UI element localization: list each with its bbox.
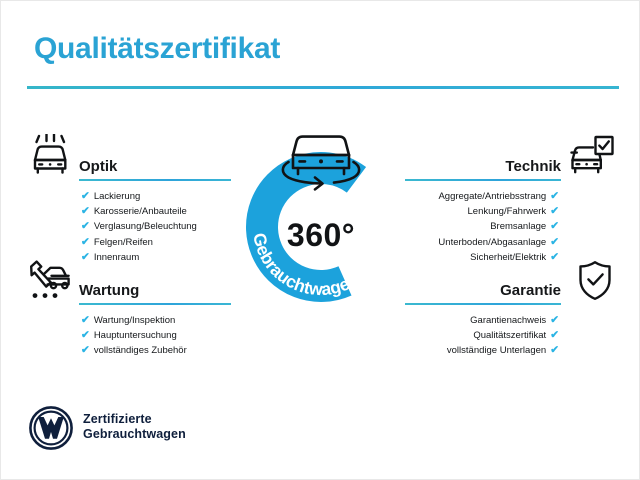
list-item-label: Lackierung — [94, 191, 140, 202]
section-technik-header: Technik — [405, 149, 561, 179]
section-garantie-list: Garantienachweis✔ Qualitätszertifikat✔ v… — [447, 313, 559, 359]
vw-logo-text: Zertifizierte Gebrauchtwagen — [83, 412, 186, 442]
section-garantie: Garantie Garantienachweis✔ Qualitätszert… — [405, 273, 561, 303]
section-technik-divider — [405, 179, 561, 181]
car-shine-icon — [27, 134, 73, 176]
list-item-label: vollständige Unterlagen — [447, 345, 546, 356]
badge-360-check: Gebrauchtwagen-Check 360° — [231, 119, 411, 309]
certificate-page: Qualitätszertifikat Optik ✔Lackierung ✔K… — [0, 0, 640, 480]
list-item-label: Wartung/Inspektion — [94, 315, 176, 326]
list-item: ✔Innenraum — [81, 250, 197, 265]
check-icon: ✔ — [550, 328, 559, 343]
check-icon: ✔ — [550, 204, 559, 219]
page-title: Qualitätszertifikat — [34, 32, 280, 66]
check-icon: ✔ — [81, 343, 90, 358]
check-icon: ✔ — [550, 219, 559, 234]
list-item-label: Aggregate/Antriebsstrang — [438, 191, 546, 202]
badge-number: 360° — [231, 217, 411, 254]
vw-logo-icon — [29, 406, 73, 450]
check-icon: ✔ — [81, 328, 90, 343]
check-icon: ✔ — [81, 219, 90, 234]
section-wartung-list: ✔Wartung/Inspektion ✔Hauptuntersuchung ✔… — [81, 313, 187, 359]
list-item-label: Verglasung/Beleuchtung — [94, 221, 197, 232]
section-garantie-title: Garantie — [500, 282, 561, 299]
list-item: ✔Lackierung — [81, 189, 197, 204]
section-technik-title: Technik — [505, 158, 561, 175]
section-garantie-divider — [405, 303, 561, 305]
list-item-label: Bremsanlage — [490, 221, 546, 232]
section-optik: Optik ✔Lackierung ✔Karosserie/Anbauteile… — [79, 149, 231, 179]
list-item: Lenkung/Fahrwerk✔ — [438, 204, 559, 219]
list-item: Unterboden/Abgasanlage✔ — [438, 235, 559, 250]
list-item: Sicherheit/Elektrik✔ — [438, 250, 559, 265]
list-item: ✔Karosserie/Anbauteile — [81, 204, 197, 219]
check-icon: ✔ — [81, 204, 90, 219]
section-technik-list: Aggregate/Antriebsstrang✔ Lenkung/Fahrwe… — [438, 189, 559, 265]
list-item: Garantienachweis✔ — [447, 313, 559, 328]
check-icon: ✔ — [81, 235, 90, 250]
section-wartung-header: Wartung — [79, 273, 231, 303]
check-icon: ✔ — [81, 313, 90, 328]
list-item: ✔Verglasung/Beleuchtung — [81, 219, 197, 234]
list-item-label: Garantienachweis — [470, 315, 546, 326]
title-divider — [27, 86, 619, 89]
wrench-car-icon — [27, 260, 73, 302]
check-icon: ✔ — [550, 343, 559, 358]
list-item: Bremsanlage✔ — [438, 219, 559, 234]
shield-check-icon — [573, 260, 619, 302]
list-item-label: vollständiges Zubehör — [94, 345, 187, 356]
section-wartung-divider — [79, 303, 231, 305]
list-item: ✔Wartung/Inspektion — [81, 313, 187, 328]
vw-logo-text-line2: Gebrauchtwagen — [83, 427, 186, 442]
section-optik-list: ✔Lackierung ✔Karosserie/Anbauteile ✔Verg… — [81, 189, 197, 265]
section-wartung-title: Wartung — [79, 282, 139, 299]
list-item: Aggregate/Antriebsstrang✔ — [438, 189, 559, 204]
section-optik-title: Optik — [79, 158, 117, 175]
list-item: ✔vollständiges Zubehör — [81, 343, 187, 358]
section-technik: Technik Aggregate/Antriebsstrang✔ Lenkun… — [405, 149, 561, 179]
section-optik-header: Optik — [79, 149, 231, 179]
car-checkbox-icon — [569, 134, 615, 176]
section-wartung: Wartung ✔Wartung/Inspektion ✔Hauptunters… — [79, 273, 231, 303]
list-item-label: Felgen/Reifen — [94, 237, 153, 248]
list-item: ✔Felgen/Reifen — [81, 235, 197, 250]
list-item-label: Hauptuntersuchung — [94, 330, 177, 341]
list-item-label: Karosserie/Anbauteile — [94, 206, 187, 217]
list-item-label: Sicherheit/Elektrik — [470, 252, 546, 263]
check-icon: ✔ — [550, 313, 559, 328]
check-icon: ✔ — [81, 250, 90, 265]
vw-logo-text-line1: Zertifizierte — [83, 412, 186, 427]
list-item-label: Innenraum — [94, 252, 139, 263]
list-item: Qualitätszertifikat✔ — [447, 328, 559, 343]
check-icon: ✔ — [550, 189, 559, 204]
list-item-label: Lenkung/Fahrwerk — [468, 206, 547, 217]
check-icon: ✔ — [81, 189, 90, 204]
list-item-label: Unterboden/Abgasanlage — [438, 237, 546, 248]
check-icon: ✔ — [550, 235, 559, 250]
list-item: ✔Hauptuntersuchung — [81, 328, 187, 343]
list-item: vollständige Unterlagen✔ — [447, 343, 559, 358]
section-garantie-header: Garantie — [405, 273, 561, 303]
list-item-label: Qualitätszertifikat — [473, 330, 546, 341]
check-icon: ✔ — [550, 250, 559, 265]
section-optik-divider — [79, 179, 231, 181]
